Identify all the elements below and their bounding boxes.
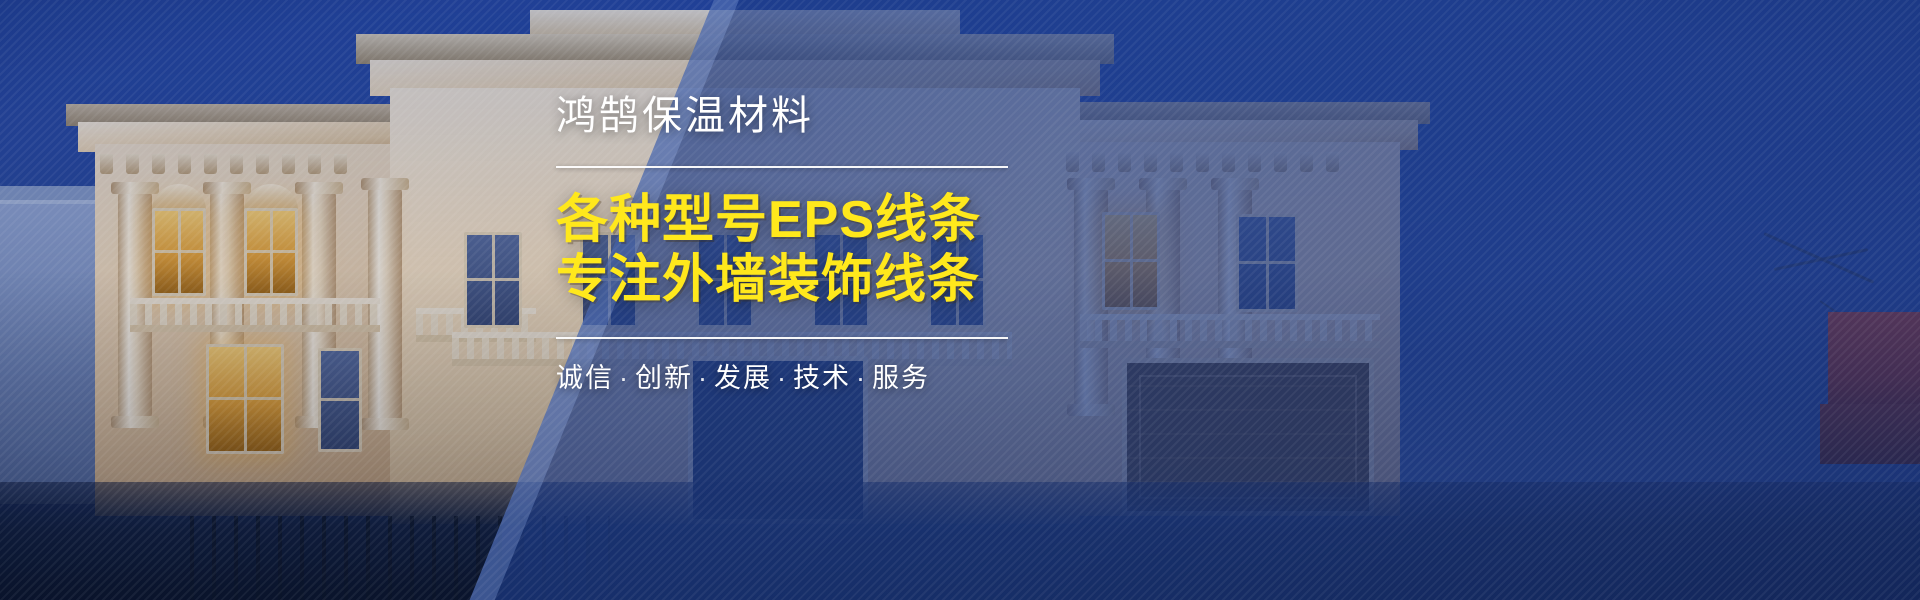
tagline: 诚信·创新·发展·技术·服务 — [556, 365, 1008, 392]
headline-line-1: 各种型号EPS线条 — [556, 190, 1008, 250]
company-name: 鸿鹄保温材料 — [556, 96, 1008, 136]
banner-copy: 鸿鹄保温材料 各种型号EPS线条 专注外墙装饰线条 诚信·创新·发展·技术·服务 — [556, 96, 1008, 392]
tagline-separator: · — [772, 363, 793, 393]
tagline-item: 诚信 — [556, 363, 614, 393]
tagline-item: 创新 — [635, 363, 693, 393]
tagline-separator: · — [614, 363, 635, 393]
divider-top — [556, 166, 1008, 168]
tagline-item: 服务 — [872, 363, 930, 393]
headline-line-2: 专注外墙装饰线条 — [556, 250, 1008, 310]
hero-banner: 鸿鹄保温材料 各种型号EPS线条 专注外墙装饰线条 诚信·创新·发展·技术·服务 — [0, 0, 1920, 600]
tagline-separator: · — [693, 363, 714, 393]
divider-bottom — [556, 337, 1008, 339]
tagline-item: 发展 — [714, 363, 772, 393]
tagline-separator: · — [851, 363, 872, 393]
tagline-item: 技术 — [793, 363, 851, 393]
